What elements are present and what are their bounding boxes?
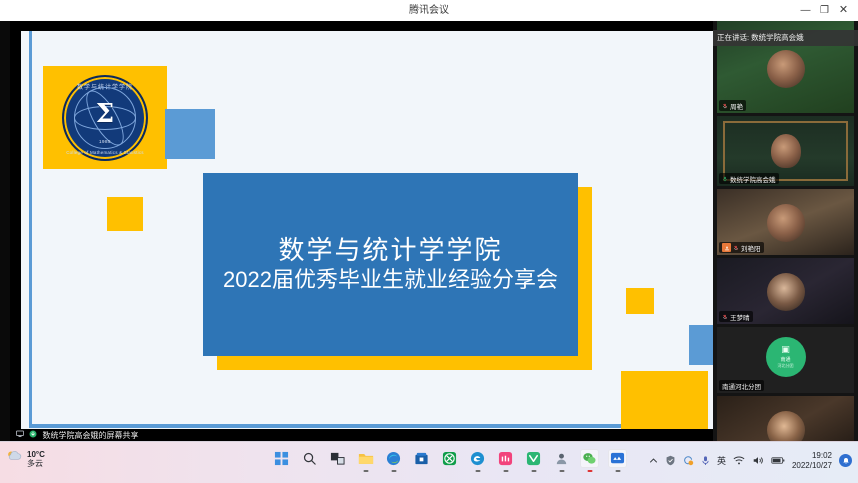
- edge-legacy-icon[interactable]: [468, 449, 487, 468]
- sigma-icon: Σ: [96, 99, 114, 129]
- window-title: 腾讯会议: [0, 0, 858, 21]
- participant-rail[interactable]: 正在讲话: 数统学院高会娥 周艳: [713, 21, 858, 442]
- meeting-body: 数学与统计学学院 Σ 1985 College of Mathematics &…: [0, 21, 858, 442]
- tencent-meeting-window: 腾讯会议 — ❐ ✕ 数学与统计学学院 Σ 1985: [0, 0, 858, 483]
- participant-nametag: 周艳: [719, 100, 746, 111]
- participant-tile[interactable]: ▣ 南通 河北分团 南通河北分团: [717, 327, 854, 393]
- edge-icon[interactable]: [384, 449, 403, 468]
- close-button[interactable]: ✕: [834, 0, 853, 21]
- green-app-icon[interactable]: [524, 449, 543, 468]
- search-icon[interactable]: [300, 449, 319, 468]
- camera-off-icon: ▣: [781, 345, 790, 354]
- clock-date: 2022/10/27: [792, 461, 832, 470]
- pink-app-icon[interactable]: [496, 449, 515, 468]
- microsoft-store-icon[interactable]: [412, 449, 431, 468]
- weather-icon: [6, 449, 23, 469]
- tray-chevron-up-icon[interactable]: [649, 456, 658, 465]
- xbox-icon[interactable]: [440, 449, 459, 468]
- tray-shield-icon[interactable]: [665, 455, 676, 466]
- slide-bottom-rule: [29, 424, 621, 428]
- participant-tile[interactable]: 范雅晴: [717, 396, 854, 442]
- participant-face: [767, 204, 805, 242]
- slide-title-line1: 数学与统计学学院: [278, 235, 502, 266]
- participant-face: [767, 411, 805, 442]
- logo-emblem: 数学与统计学学院 Σ 1985 College of Mathematics &…: [62, 75, 148, 161]
- app-running-dot: [531, 470, 536, 472]
- participant-name: 周艳: [730, 101, 743, 111]
- app-running-dot: [503, 470, 508, 472]
- wechat-icon[interactable]: [580, 449, 599, 468]
- tray-sync-icon[interactable]: [683, 455, 694, 466]
- slide-left-rule: [29, 31, 32, 424]
- decor-square-blue-1: [165, 109, 215, 159]
- notification-icon[interactable]: [839, 454, 852, 467]
- screen-share-area[interactable]: 数学与统计学学院 Σ 1985 College of Mathematics &…: [10, 21, 713, 442]
- mic-muted-icon: [733, 244, 739, 252]
- tencent-meeting-icon[interactable]: [608, 449, 627, 468]
- app-running-dot: [391, 470, 396, 472]
- avatar: ▣ 南通 河北分团: [766, 337, 806, 377]
- participant-nametag: 南通河北分团: [719, 380, 764, 391]
- system-tray: 英 19:02 2022/10/27: [649, 451, 852, 470]
- slide-title-line2: 2022届优秀毕业生就业经验分享会: [223, 266, 558, 294]
- volume-icon[interactable]: [752, 455, 764, 466]
- app-running-dot: [587, 470, 592, 472]
- maximize-button[interactable]: ❐: [815, 0, 834, 21]
- app-running-dot: [615, 470, 620, 472]
- clock-time: 19:02: [812, 451, 832, 460]
- participant-face: [767, 273, 805, 311]
- file-explorer-icon[interactable]: [356, 449, 375, 468]
- mic-muted-icon: [722, 102, 728, 110]
- college-logo: 数学与统计学学院 Σ 1985 College of Mathematics &…: [43, 66, 167, 169]
- participant-tile[interactable]: 王梦晴: [717, 258, 854, 324]
- participant-name: 王梦晴: [730, 312, 750, 322]
- logo-year: 1985: [99, 139, 111, 144]
- start-button[interactable]: [272, 449, 291, 468]
- app-running-dot: [475, 470, 480, 472]
- tray-microphone-icon[interactable]: [701, 455, 710, 466]
- app-running-dot: [363, 470, 368, 472]
- participant-name: 南通河北分团: [722, 381, 761, 391]
- clock[interactable]: 19:02 2022/10/27: [792, 451, 832, 470]
- app-running-dot: [559, 470, 564, 472]
- window-title-bar: 腾讯会议 — ❐ ✕: [0, 0, 858, 22]
- decor-square-blue-2: [689, 325, 713, 365]
- taskbar-app-icons: [272, 449, 627, 468]
- participant-name: 数统学院高会娥: [730, 174, 776, 184]
- speaking-indicator: 正在讲话: 数统学院高会娥: [713, 30, 858, 46]
- participant-tile[interactable]: 数统学院高会娥: [717, 116, 854, 186]
- logo-en-text: College of Mathematics & Statistics: [66, 150, 144, 155]
- windows-taskbar: 10°C 多云: [0, 441, 858, 483]
- avatar-text-2: 河北分团: [778, 363, 794, 369]
- participant-nametag: 王梦晴: [719, 311, 753, 322]
- participant-face: [767, 50, 805, 88]
- weather-description: 多云: [27, 459, 43, 468]
- participant-nametag: 刘艳阳: [719, 242, 764, 253]
- participant-nametag: 数统学院高会娥: [719, 173, 779, 184]
- weather-widget[interactable]: 10°C 多云: [6, 449, 45, 469]
- contacts-icon[interactable]: [552, 449, 571, 468]
- ime-indicator[interactable]: 英: [717, 454, 726, 467]
- share-owner-label: 数统学院高会娥的屏幕共享: [42, 431, 138, 440]
- avatar-text-1: 南通: [780, 356, 790, 363]
- minimize-button[interactable]: —: [796, 0, 815, 21]
- participant-face: [771, 134, 801, 168]
- participant-tile[interactable]: 刘艳阳: [717, 189, 854, 255]
- decor-square-yellow-1: [107, 197, 143, 231]
- title-card: 数学与统计学学院 2022届优秀毕业生就业经验分享会: [203, 173, 578, 356]
- task-view-icon[interactable]: [328, 449, 347, 468]
- mic-muted-icon: [722, 313, 728, 321]
- wifi-icon[interactable]: [733, 455, 745, 466]
- host-icon: [722, 243, 731, 252]
- weather-temperature: 10°C: [27, 450, 45, 459]
- battery-icon[interactable]: [771, 456, 785, 465]
- presentation-slide: 数学与统计学学院 Σ 1985 College of Mathematics &…: [21, 31, 713, 441]
- participant-name: 刘艳阳: [741, 243, 761, 253]
- decor-square-yellow-2: [626, 288, 654, 314]
- mic-active-icon: [722, 175, 728, 183]
